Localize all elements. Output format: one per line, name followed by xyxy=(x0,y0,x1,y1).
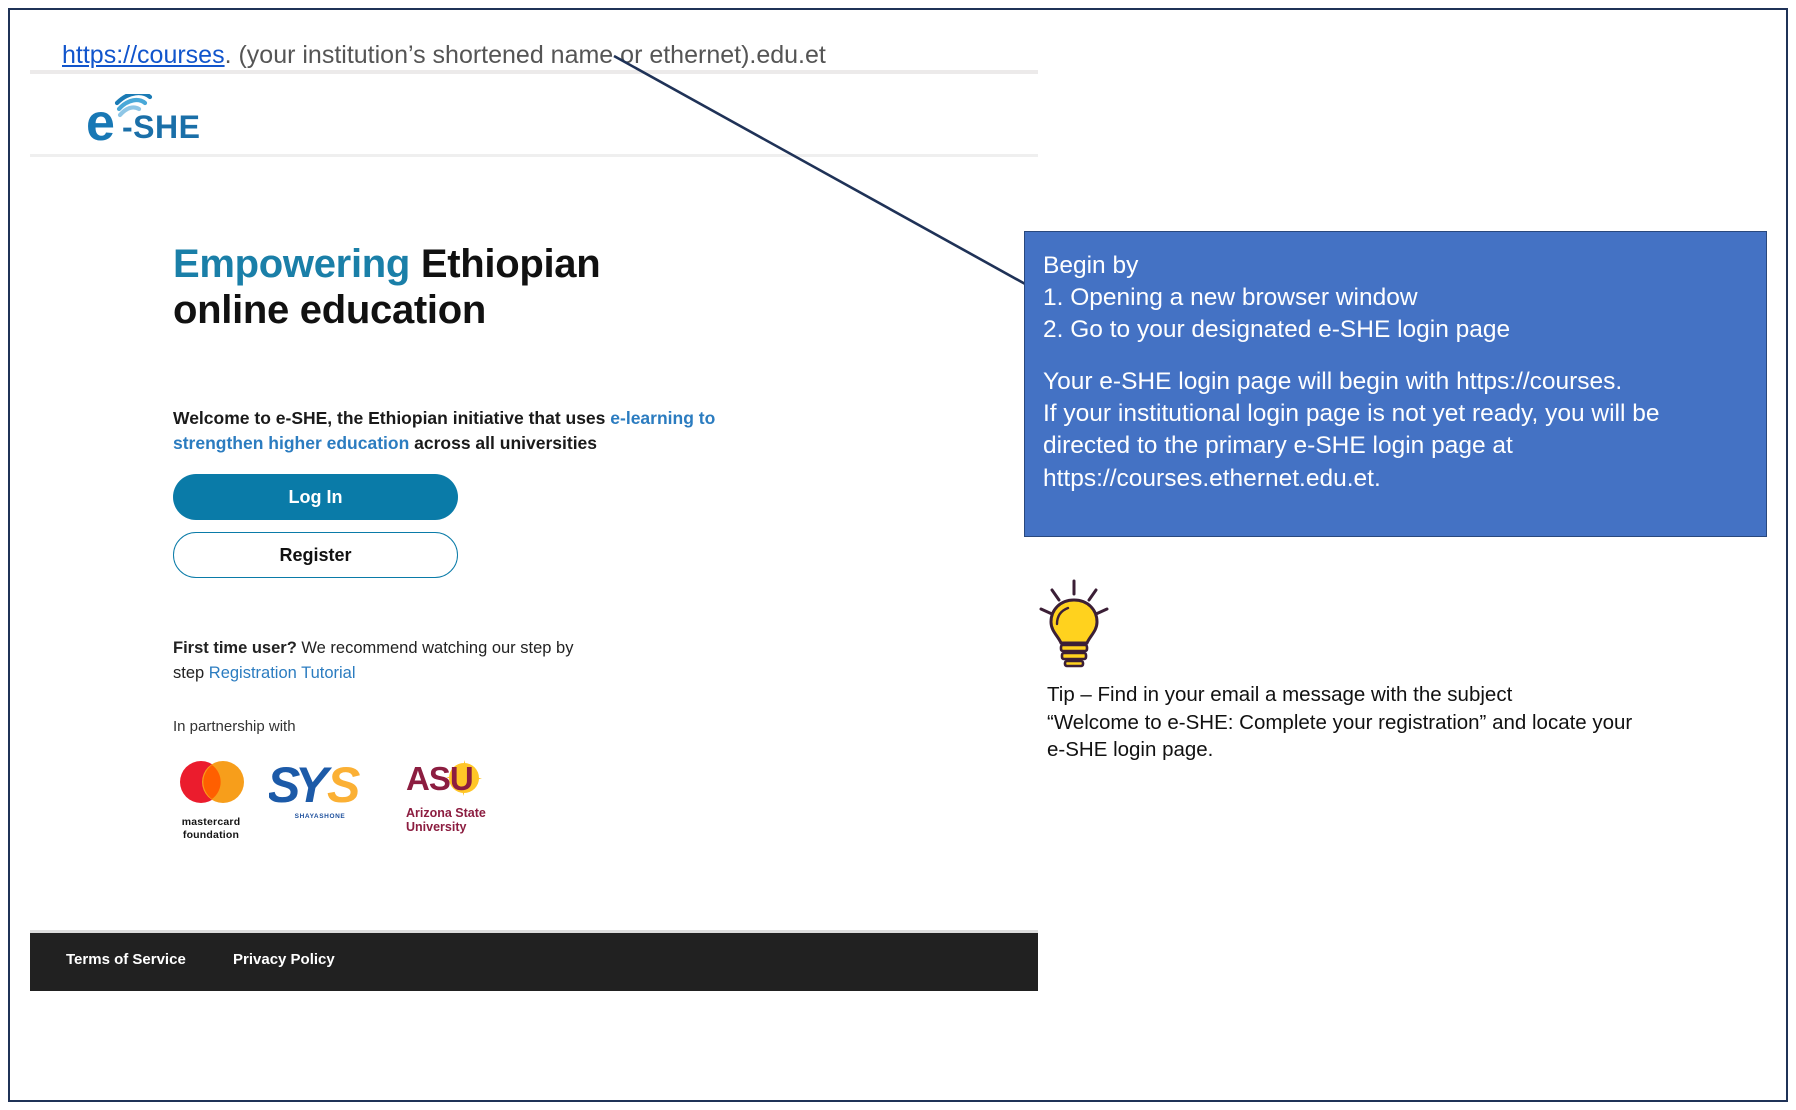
asu-caption-1: Arizona State xyxy=(406,806,486,820)
sys-caption: SHAYASHONE xyxy=(269,813,371,820)
slide-canvas: https://courses. (your institution’s sho… xyxy=(0,0,1796,1110)
arizona-state-university-logo: ASU Arizona State University xyxy=(406,758,502,835)
asu-wordmark: ASU xyxy=(406,760,473,797)
subtitle-post: across all universities xyxy=(409,433,597,453)
tip-line-2: “Welcome to e-SHE: Complete your registr… xyxy=(1047,709,1767,737)
browser-screenshot: https://courses. (your institution’s sho… xyxy=(30,18,1040,1088)
mastercard-caption: mastercard foundation xyxy=(173,816,249,842)
logo-she-text: -SHE xyxy=(122,109,200,145)
mastercard-caption-1: mastercard xyxy=(182,816,241,828)
lightbulb-base-2 xyxy=(1062,653,1086,659)
title-rest: Ethiopian xyxy=(421,242,601,286)
asu-caption: Arizona State University xyxy=(406,807,502,835)
page-subtitle: Welcome to e-SHE, the Ethiopian initiati… xyxy=(173,406,733,457)
url-remainder: . (your institution’s shortened name or … xyxy=(225,41,826,69)
tip-text: Tip – Find in your email a message with … xyxy=(1047,681,1767,764)
first-time-bold: First time user? xyxy=(173,639,297,657)
partner-logos: mastercard foundation S Y S SHAYASHONE xyxy=(173,758,603,858)
eshe-logo[interactable]: e -SHE xyxy=(86,94,296,148)
lightbulb-base-3 xyxy=(1065,661,1083,666)
sys-s2-glyph: S xyxy=(327,758,360,810)
first-time-user-note: First time user? We recommend watching o… xyxy=(173,636,603,687)
partnership-label: In partnership with xyxy=(173,718,296,735)
terms-of-service-link[interactable]: Terms of Service xyxy=(66,951,186,968)
sys-shayashone-logo: S Y S SHAYASHONE xyxy=(269,758,371,820)
subtitle-pre: Welcome to e-SHE, the Ethiopian initiati… xyxy=(173,408,610,428)
title-accent: Empowering xyxy=(173,242,421,286)
site-footer: Terms of Service Privacy Policy xyxy=(30,930,1038,991)
url-link[interactable]: https://courses xyxy=(62,41,225,69)
callout-paragraph-1: Your e-SHE login page will begin with ht… xyxy=(1043,366,1748,398)
title-line2: online education xyxy=(173,288,486,332)
callout-paragraph-2: If your institutional login page is not … xyxy=(1043,398,1748,430)
login-button[interactable]: Log In xyxy=(173,474,458,520)
callout-step-1: 1. Opening a new browser window xyxy=(1043,282,1748,314)
mastercard-caption-2: foundation xyxy=(183,829,239,841)
tip-line-3: e-SHE login page. xyxy=(1047,736,1767,764)
callout-step-2: 2. Go to your designated e-SHE login pag… xyxy=(1043,314,1748,346)
privacy-policy-link[interactable]: Privacy Policy xyxy=(233,951,335,968)
lightbulb-icon xyxy=(1038,578,1110,670)
registration-tutorial-link[interactable]: Registration Tutorial xyxy=(209,664,356,682)
callout-paragraph-3: directed to the primary e-SHE login page… xyxy=(1043,430,1748,462)
asu-caption-2: University xyxy=(406,820,466,834)
callout-paragraph-4: https://courses.ethernet.edu.et. xyxy=(1043,463,1748,495)
tip-line-1: Tip – Find in your email a message with … xyxy=(1047,681,1767,709)
mastercard-foundation-logo: mastercard foundation xyxy=(173,758,249,842)
callout-spacer xyxy=(1043,346,1748,366)
logo-e-glyph: e xyxy=(86,94,115,148)
callout-heading: Begin by xyxy=(1043,250,1748,282)
register-button[interactable]: Register xyxy=(173,532,458,578)
instructions-callout: Begin by 1. Opening a new browser window… xyxy=(1024,231,1767,537)
lightbulb-base-1 xyxy=(1061,645,1087,651)
page-title: Empowering Ethiopian online education xyxy=(173,241,933,334)
